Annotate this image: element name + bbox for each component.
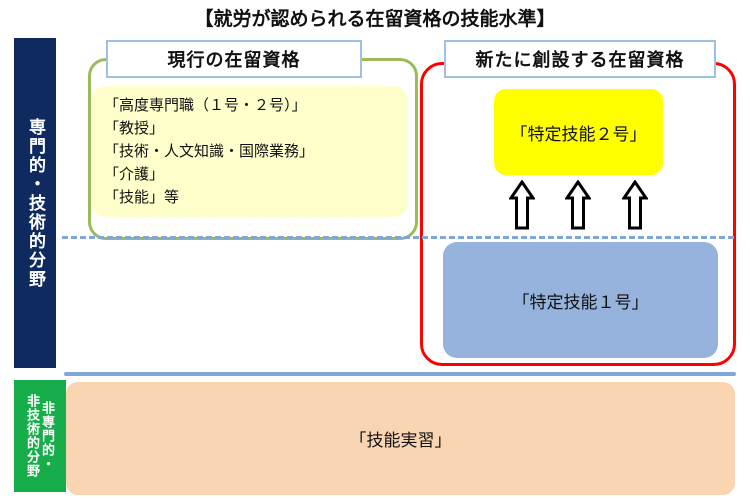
sidebar-professional-technical-label: 専門的・技術的分野 <box>14 38 56 368</box>
specified-skills-no2-box: 「特定技能２号」 <box>494 89 663 175</box>
header-new-status: 新たに創設する在留資格 <box>444 40 716 78</box>
dashed-divider <box>62 236 734 239</box>
current-status-list: 「高度専門職（１号・２号）」 「教授」 「技術・人文知識・国際業務」 「介護」 … <box>92 86 408 217</box>
sidebar-nonprofessional-line2: 非技術的分野 <box>25 394 40 478</box>
specified-skills-no1-label: 「特定技能１号」 <box>513 288 649 313</box>
arrow-up-icon <box>622 180 648 230</box>
solid-divider <box>64 372 736 376</box>
list-item: 「教授」 <box>104 117 396 140</box>
sidebar-professional-technical: 専門的・技術的分野 <box>14 38 56 368</box>
list-item: 「技術・人文知識・国際業務」 <box>104 140 396 163</box>
list-item: 「高度専門職（１号・２号）」 <box>104 94 396 117</box>
technical-intern-training-label: 「技能実習」 <box>350 426 452 451</box>
technical-intern-training-box: 「技能実習」 <box>66 382 735 495</box>
arrow-up-icon <box>509 180 535 230</box>
list-item: 「介護」 <box>104 163 396 186</box>
specified-skills-no1-box: 「特定技能１号」 <box>443 242 718 358</box>
diagram-canvas: 【就労が認められる在留資格の技能水準】 専門的・技術的分野 非専門的・ 非技術的… <box>0 0 750 500</box>
sidebar-nonprofessional-nontechnical: 非専門的・ 非技術的分野 <box>14 380 66 492</box>
page-title: 【就労が認められる在留資格の技能水準】 <box>0 4 750 31</box>
list-item: 「技能」等 <box>104 186 396 209</box>
upgrade-arrows-group <box>494 180 663 232</box>
header-current-status-label: 現行の在留資格 <box>168 46 301 72</box>
header-current-status: 現行の在留資格 <box>106 40 362 78</box>
sidebar-nonprofessional-line1: 非専門的・ <box>40 401 55 471</box>
specified-skills-no2-label: 「特定技能２号」 <box>511 120 647 145</box>
header-new-status-label: 新たに創設する在留資格 <box>476 46 685 72</box>
arrow-up-icon <box>565 180 591 230</box>
